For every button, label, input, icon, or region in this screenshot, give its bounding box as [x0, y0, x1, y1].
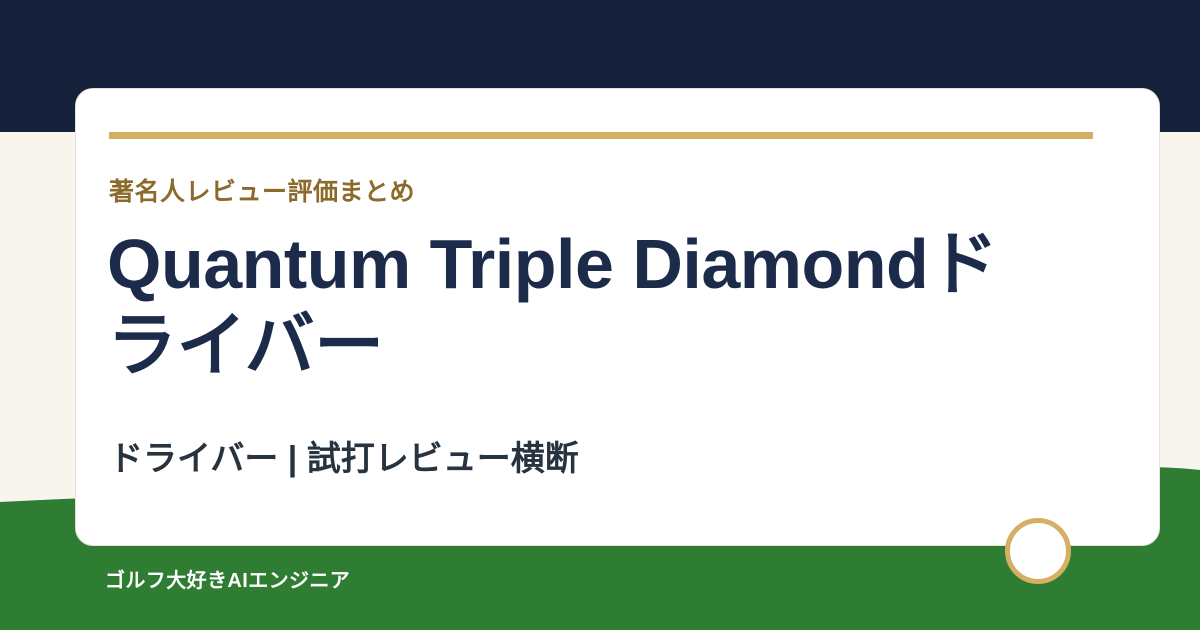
ogp-card-canvas: 著名人レビュー評価まとめ Quantum Triple Diamondドライバー… [0, 0, 1200, 630]
card-eyebrow: 著名人レビュー評価まとめ [109, 177, 415, 207]
page-title: Quantum Triple Diamondドライバー [107, 224, 1067, 385]
content-card: 著名人レビュー評価まとめ Quantum Triple Diamondドライバー… [75, 88, 1160, 546]
gold-ring-icon [1005, 518, 1071, 584]
footer-byline: ゴルフ大好きAIエンジニア [105, 564, 350, 593]
gold-accent-rule [109, 132, 1093, 139]
card-subtitle: ドライバー | 試打レビュー横断 [109, 437, 579, 481]
